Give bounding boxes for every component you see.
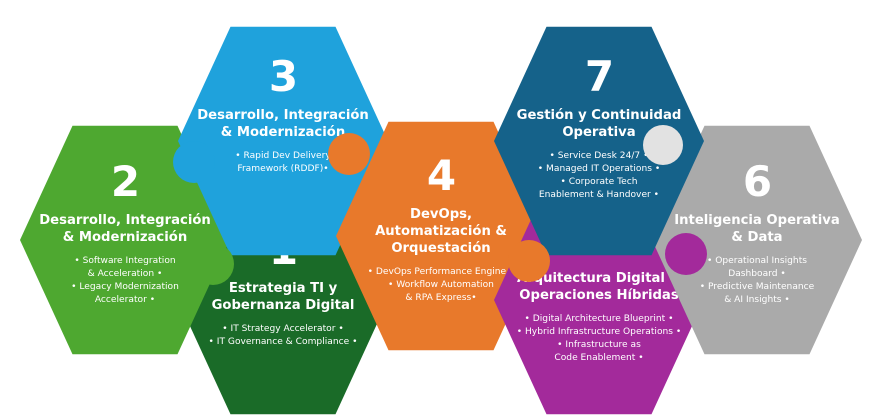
connector-1-to-2-dot: [192, 243, 234, 285]
node-bullets: • Rapid Dev Delivery Framework (RDDF)•: [223, 150, 343, 176]
node-number: 4: [427, 155, 455, 197]
node-number: 2: [111, 161, 139, 203]
node-bullets: • Operational Insights Dashboard • • Pre…: [688, 255, 827, 307]
connector-3-to-4-dot: [328, 133, 370, 175]
node-title: Desarrollo, Integración & Modernización: [25, 212, 225, 246]
node-title: Estrategia TI y Gobernanza Digital: [198, 280, 369, 314]
connector-4-to-5-dot: [508, 240, 550, 282]
node-number: 7: [585, 56, 613, 98]
node-number: 3: [269, 56, 297, 98]
node-bullets: • Software Integration & Acceleration • …: [59, 255, 191, 307]
node-bullets: • Digital Architecture Blueprint • • Hyb…: [505, 313, 694, 365]
connector-5-to-6-dot: [665, 233, 707, 275]
connector-7-to-6-dot: [643, 125, 683, 165]
node-number: 6: [743, 161, 771, 203]
infographic-canvas: 1Estrategia TI y Gobernanza Digital• IT …: [0, 0, 884, 420]
node-bullets: • IT Strategy Accelerator • • IT Governa…: [197, 323, 370, 349]
connector-2-to-3-dot: [173, 141, 215, 183]
